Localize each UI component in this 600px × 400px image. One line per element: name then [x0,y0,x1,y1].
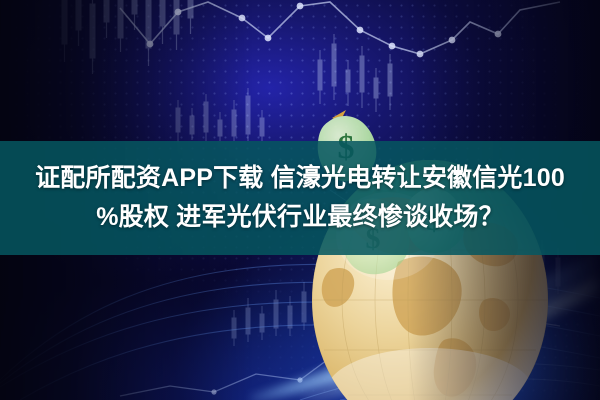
thumbnail-canvas: $ $ $ 证配所配资APP下载 信濠光电转让安徽信光100 %股权 进军光伏行… [0,0,600,400]
headline-band: 证配所配资APP下载 信濠光电转让安徽信光100 %股权 进军光伏行业最终惨谈收… [0,141,600,255]
headline-line-1: 证配所配资APP下载 信濠光电转让安徽信光100 [35,160,565,197]
headline-line-2: %股权 进军光伏行业最终惨谈收场？ [96,199,504,236]
